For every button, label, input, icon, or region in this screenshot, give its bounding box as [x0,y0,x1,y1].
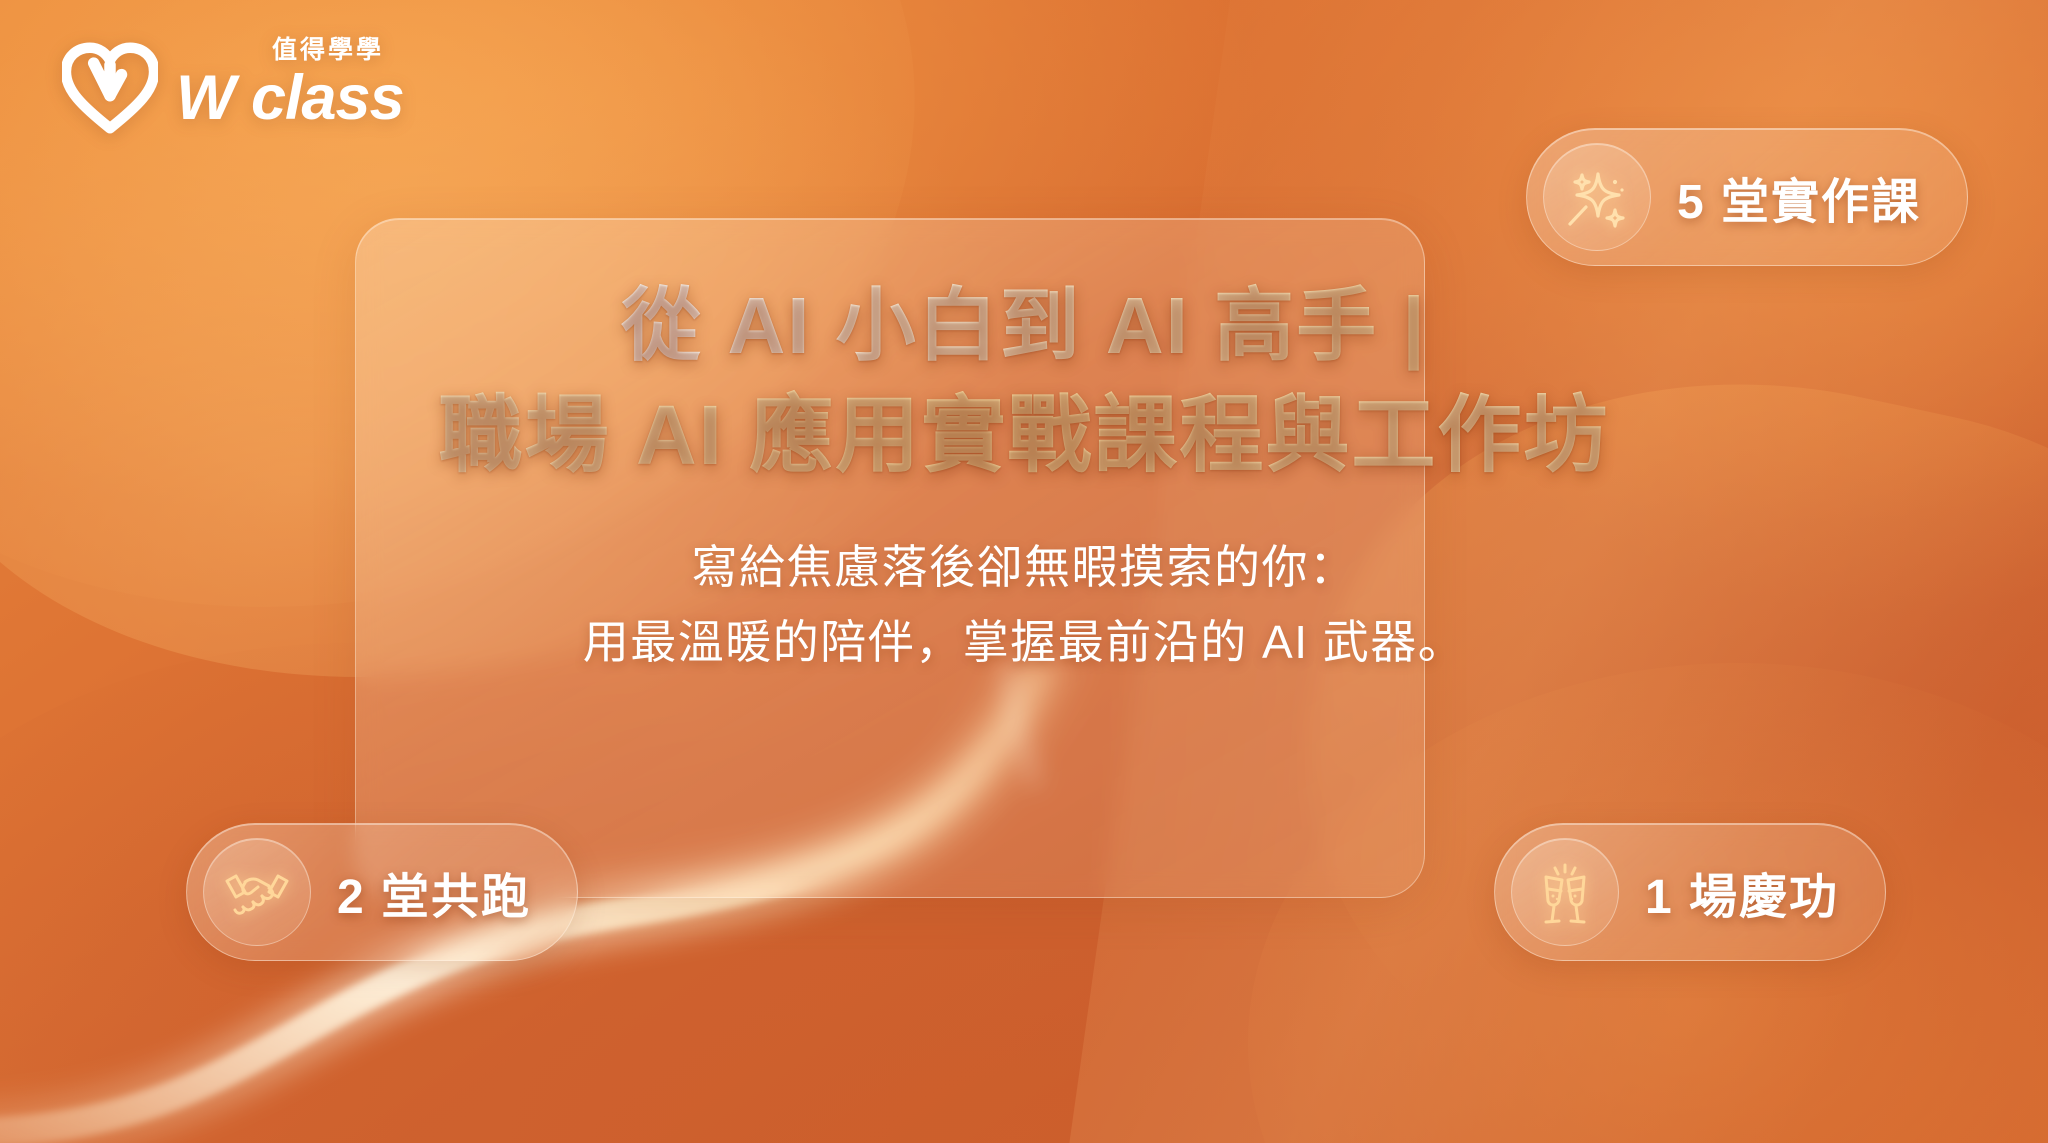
headline-block: 從 AI 小白到 AI 高手 | 職場 AI 應用實戰課程與工作坊 寫給焦慮落後… [0,280,2048,679]
subtitle-line-2: 用最溫暖的陪伴，掌握最前沿的 AI 武器。 [0,605,2048,680]
badge-practical-classes[interactable]: 5 堂實作課 [1526,128,1968,266]
badge-cohort-classes[interactable]: 2 堂共跑 [186,823,578,961]
badge-label: 2 堂共跑 [337,857,531,927]
subtitle-line-1: 寫給焦慮落後卻無暇摸索的你： [0,530,2048,605]
subtitle-block: 寫給焦慮落後卻無暇摸索的你： 用最溫暖的陪伴，掌握最前沿的 AI 武器。 [0,530,2048,679]
page-title-line-2: 職場 AI 應用實戰課程與工作坊 [0,387,2048,484]
logo-wordmark: W class [176,67,404,130]
badge-label: 5 堂實作課 [1677,162,1921,232]
heart-w-logo-icon [62,42,158,134]
badge-icon-circle [1543,143,1651,251]
sparkle-wand-icon [1560,160,1634,234]
badge-label: 1 場慶功 [1645,857,1839,927]
champagne-toast-icon [1528,855,1602,929]
badge-icon-circle [203,838,311,946]
logo-tagline: 值得學學 [272,38,384,63]
handshake-icon [219,854,295,930]
badge-icon-circle [1511,838,1619,946]
promo-banner: 值得學學 W class 從 AI 小白到 AI 高手 | 職場 AI 應用實戰… [0,0,2048,1143]
badge-celebration[interactable]: 1 場慶功 [1494,823,1886,961]
page-title-line-1: 從 AI 小白到 AI 高手 | [0,280,2048,373]
brand-logo[interactable]: 值得學學 W class [62,38,404,134]
